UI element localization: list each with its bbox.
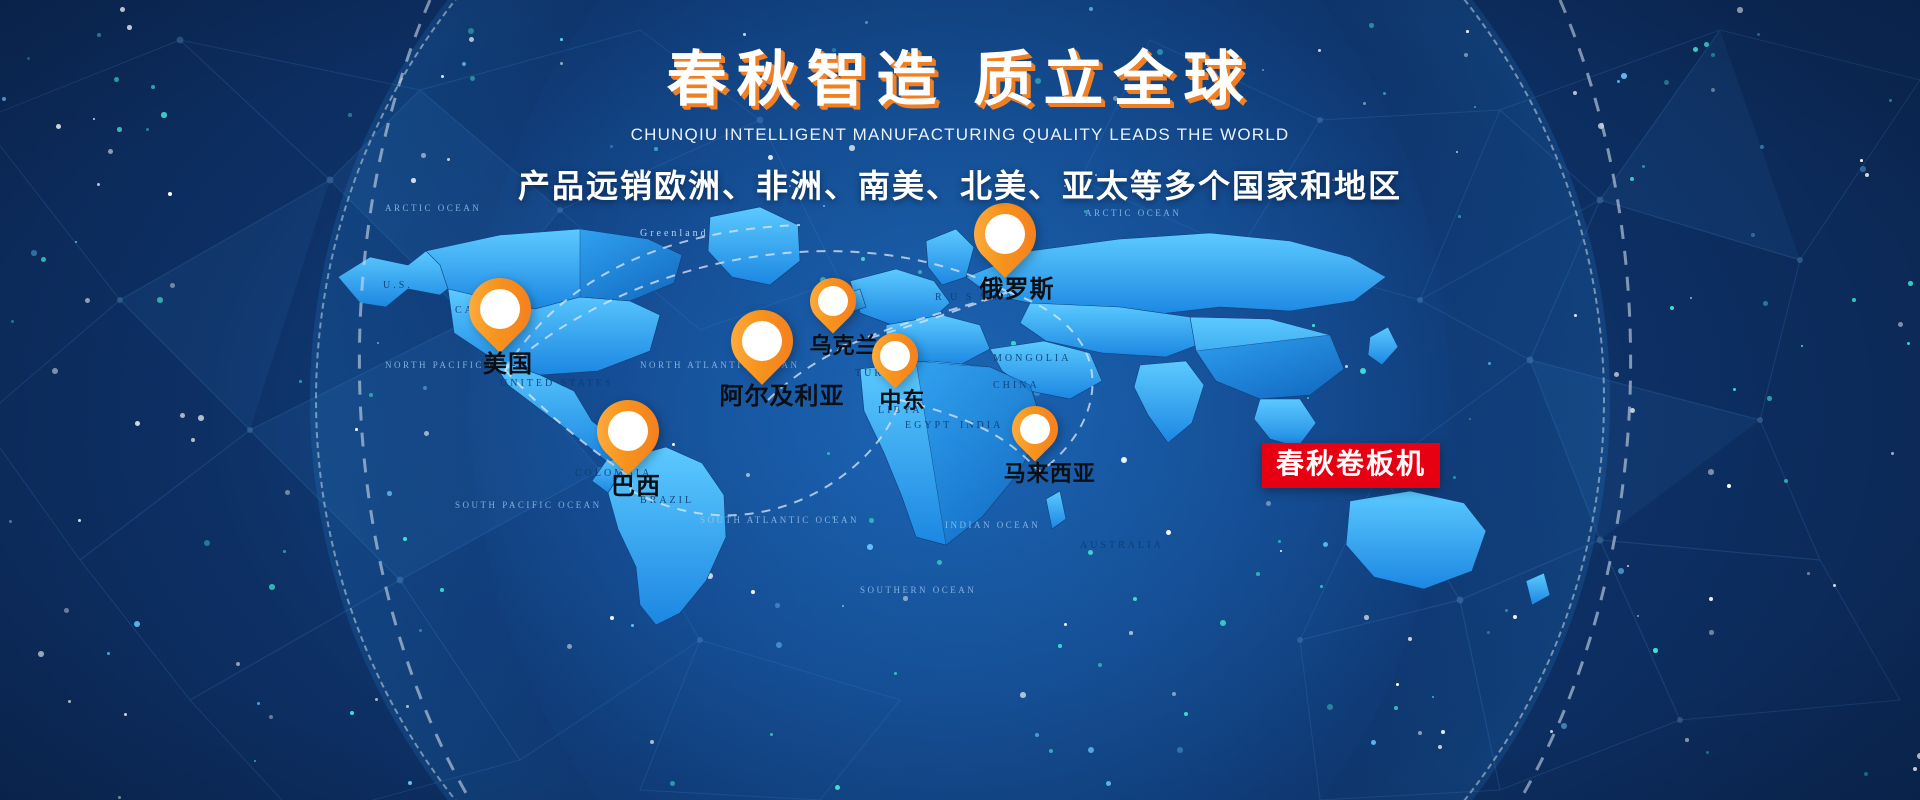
star-dot bbox=[1011, 341, 1016, 346]
star-dot bbox=[715, 237, 718, 240]
map-pin-center-dot bbox=[880, 341, 910, 371]
star-dot bbox=[751, 590, 755, 594]
star-dot bbox=[31, 250, 37, 256]
star-dot bbox=[1505, 609, 1508, 612]
star-dot bbox=[350, 711, 354, 715]
star-dot bbox=[686, 466, 691, 471]
map-pin-label: 美国 bbox=[483, 344, 533, 379]
star-dot bbox=[1913, 767, 1917, 771]
star-dot bbox=[127, 25, 132, 30]
star-dot bbox=[1630, 408, 1635, 413]
star-dot bbox=[1321, 368, 1324, 371]
brand-badge: 春秋卷板机 bbox=[1262, 443, 1440, 488]
star-dot bbox=[269, 584, 275, 590]
country-label: CHINA bbox=[993, 380, 1040, 391]
country-label: UNITED STATES bbox=[500, 378, 613, 389]
star-dot bbox=[1751, 233, 1755, 237]
star-dot bbox=[1708, 469, 1714, 475]
star-dot bbox=[1487, 631, 1490, 634]
star-dot bbox=[107, 652, 110, 655]
star-dot bbox=[1637, 615, 1639, 617]
star-dot bbox=[1627, 565, 1629, 567]
country-label: MONGOLIA bbox=[993, 353, 1071, 364]
star-dot bbox=[1345, 365, 1348, 368]
map-pin-center-dot bbox=[1020, 414, 1050, 444]
star-dot bbox=[659, 269, 664, 274]
star-dot bbox=[835, 785, 840, 790]
star-dot bbox=[1162, 406, 1165, 409]
star-dot bbox=[1767, 396, 1772, 401]
star-dot bbox=[1458, 215, 1461, 218]
star-dot bbox=[670, 781, 675, 786]
star-dot bbox=[560, 38, 563, 41]
star-dot bbox=[775, 603, 780, 608]
star-dot bbox=[545, 251, 551, 257]
star-dot bbox=[135, 421, 140, 426]
star-dot bbox=[1133, 597, 1137, 601]
star-dot bbox=[776, 642, 782, 648]
star-dot bbox=[937, 560, 942, 565]
star-dot bbox=[1763, 301, 1768, 306]
star-dot bbox=[1256, 572, 1260, 576]
star-dot bbox=[1090, 314, 1092, 316]
star-dot bbox=[440, 588, 444, 592]
star-dot bbox=[1364, 615, 1369, 620]
star-dot bbox=[842, 605, 844, 607]
star-dot bbox=[1396, 683, 1399, 686]
star-dot bbox=[992, 392, 994, 394]
star-dot bbox=[285, 490, 290, 495]
star-dot bbox=[68, 700, 71, 703]
map-pin-label: 巴西 bbox=[611, 466, 661, 501]
star-dot bbox=[1287, 283, 1290, 286]
star-dot bbox=[1898, 322, 1903, 327]
map-pin-usa[interactable]: 美国 bbox=[469, 278, 531, 360]
star-dot bbox=[707, 573, 713, 579]
star-dot bbox=[539, 329, 543, 333]
map-pin-russia[interactable]: 俄罗斯 bbox=[974, 203, 1036, 285]
star-dot bbox=[665, 563, 671, 569]
star-dot bbox=[1852, 298, 1856, 302]
star-dot bbox=[658, 510, 661, 513]
star-dot bbox=[610, 616, 614, 620]
star-dot bbox=[1466, 30, 1469, 33]
map-pin-center-dot bbox=[742, 321, 782, 361]
star-dot bbox=[631, 624, 634, 627]
star-dot bbox=[257, 702, 260, 705]
star-dot bbox=[469, 37, 474, 42]
star-dot bbox=[1327, 704, 1333, 710]
star-dot bbox=[1891, 452, 1894, 455]
star-dot bbox=[1807, 572, 1810, 575]
star-dot bbox=[874, 427, 878, 431]
star-dot bbox=[1320, 585, 1323, 588]
star-dot bbox=[1513, 615, 1517, 619]
star-dot bbox=[1784, 479, 1788, 483]
star-dot bbox=[419, 629, 422, 632]
star-dot bbox=[1032, 365, 1034, 367]
star-dot bbox=[567, 644, 572, 649]
star-dot bbox=[1184, 712, 1188, 716]
star-dot bbox=[468, 28, 474, 34]
star-dot bbox=[1425, 542, 1429, 546]
star-dot bbox=[1618, 568, 1624, 574]
star-dot bbox=[1469, 418, 1471, 420]
global-presence-banner: ARCTIC OCEANARCTIC OCEANNORTH PACIFIC OC… bbox=[0, 0, 1920, 800]
star-dot bbox=[170, 283, 175, 288]
star-dot bbox=[1408, 637, 1412, 641]
map-pin-ukraine[interactable]: 乌克兰 bbox=[810, 278, 856, 340]
map-pin-label: 马来西亚 bbox=[1004, 456, 1096, 488]
page-title-english: CHUNQIU INTELLIGENT MANUFACTURING QUALIT… bbox=[0, 125, 1920, 145]
star-dot bbox=[408, 781, 412, 785]
star-dot bbox=[1106, 281, 1110, 285]
star-dot bbox=[1129, 631, 1133, 635]
star-dot bbox=[1690, 297, 1692, 299]
map-pin-malaysia[interactable]: 马来西亚 bbox=[1012, 406, 1058, 468]
star-dot bbox=[269, 715, 273, 719]
star-dot bbox=[1488, 362, 1491, 365]
star-dot bbox=[406, 705, 409, 708]
star-dot bbox=[424, 431, 429, 436]
star-dot bbox=[1035, 733, 1039, 737]
star-dot bbox=[1574, 314, 1577, 317]
star-dot bbox=[198, 415, 204, 421]
star-dot bbox=[865, 21, 868, 24]
star-dot bbox=[236, 662, 240, 666]
star-dot bbox=[52, 368, 58, 374]
page-title: 春秋智造 质立全球 bbox=[0, 48, 1920, 111]
star-dot bbox=[1418, 731, 1422, 735]
star-dot bbox=[1323, 542, 1328, 547]
star-dot bbox=[545, 398, 549, 402]
star-dot bbox=[672, 443, 675, 446]
star-dot bbox=[473, 247, 477, 251]
star-dot bbox=[355, 428, 358, 431]
star-dot bbox=[1727, 484, 1731, 488]
map-pin-label: 中东 bbox=[879, 383, 925, 415]
star-dot bbox=[38, 651, 44, 657]
star-dot bbox=[1266, 501, 1271, 506]
star-dot bbox=[1058, 644, 1062, 648]
star-dot bbox=[1706, 751, 1709, 754]
map-pin-center-dot bbox=[985, 214, 1025, 254]
star-dot bbox=[1561, 723, 1567, 729]
star-dot bbox=[11, 320, 14, 323]
star-dot bbox=[387, 491, 392, 496]
star-dot bbox=[1280, 550, 1282, 552]
star-dot bbox=[1550, 730, 1553, 733]
star-dot bbox=[652, 523, 658, 529]
star-dot bbox=[157, 297, 163, 303]
star-dot bbox=[746, 473, 750, 477]
star-dot bbox=[1065, 328, 1068, 331]
star-dot bbox=[1737, 7, 1743, 13]
star-dot bbox=[1304, 289, 1308, 293]
star-dot bbox=[299, 380, 302, 383]
star-dot bbox=[1305, 393, 1307, 395]
star-dot bbox=[1653, 648, 1658, 653]
star-dot bbox=[1371, 740, 1376, 745]
star-dot bbox=[78, 519, 81, 522]
star-dot bbox=[918, 270, 922, 274]
star-dot bbox=[1220, 620, 1226, 626]
ocean-label: SOUTH PACIFIC OCEAN bbox=[455, 500, 602, 510]
banner-heading-block: 春秋智造 质立全球 CHUNQIU INTELLIGENT MANUFACTUR… bbox=[0, 48, 1920, 207]
star-dot bbox=[867, 544, 873, 550]
ocean-label: SOUTHERN OCEAN bbox=[860, 585, 976, 595]
star-dot bbox=[958, 443, 963, 448]
star-dot bbox=[861, 257, 865, 261]
star-dot bbox=[1166, 530, 1171, 535]
star-dot bbox=[1360, 368, 1366, 374]
ocean-label: INDIAN OCEAN bbox=[945, 520, 1040, 530]
star-dot bbox=[254, 760, 256, 762]
star-dot bbox=[1177, 747, 1183, 753]
star-dot bbox=[1757, 33, 1760, 36]
star-dot bbox=[1614, 372, 1619, 377]
star-dot bbox=[1121, 457, 1127, 463]
star-dot bbox=[743, 33, 746, 36]
star-dot bbox=[756, 251, 759, 254]
star-dot bbox=[1908, 281, 1913, 286]
map-pin-center-dot bbox=[818, 286, 848, 316]
star-dot bbox=[1098, 663, 1102, 667]
star-dot bbox=[75, 241, 77, 243]
star-dot bbox=[650, 740, 654, 744]
star-dot bbox=[204, 540, 210, 546]
country-label: INDIA bbox=[960, 420, 1003, 431]
star-dot bbox=[1432, 696, 1434, 698]
page-subtitle: 产品远销欧洲、非洲、南美、北美、亚太等多个国家和地区 bbox=[0, 161, 1920, 207]
star-dot bbox=[1864, 772, 1868, 776]
star-dot bbox=[1907, 342, 1910, 345]
country-label: AUSTRALIA bbox=[1080, 540, 1164, 551]
star-dot bbox=[1733, 388, 1736, 391]
star-dot bbox=[118, 796, 121, 799]
star-dot bbox=[377, 342, 379, 344]
star-dot bbox=[1049, 749, 1053, 753]
map-pin-center-dot bbox=[608, 411, 648, 451]
star-dot bbox=[403, 537, 407, 541]
map-pin-algeria[interactable]: 阿尔及利亚 bbox=[731, 310, 793, 392]
star-dot bbox=[1709, 597, 1713, 601]
star-dot bbox=[375, 698, 378, 701]
star-dot bbox=[1307, 397, 1309, 399]
star-dot bbox=[386, 261, 390, 265]
ocean-label: SOUTH ATLANTIC OCEAN bbox=[700, 515, 859, 525]
star-dot bbox=[827, 452, 830, 455]
star-dot bbox=[1369, 23, 1374, 28]
star-dot bbox=[180, 413, 185, 418]
star-dot bbox=[903, 596, 908, 601]
star-dot bbox=[85, 298, 90, 303]
star-dot bbox=[64, 608, 69, 613]
star-dot bbox=[1833, 584, 1836, 587]
star-dot bbox=[1801, 345, 1803, 347]
star-dot bbox=[191, 438, 195, 442]
star-dot bbox=[1020, 692, 1026, 698]
star-dot bbox=[423, 386, 427, 390]
star-dot bbox=[124, 713, 127, 716]
star-dot bbox=[1704, 42, 1709, 47]
star-dot bbox=[120, 7, 125, 12]
country-label: EGYPT bbox=[905, 420, 952, 431]
map-pin-center-dot bbox=[480, 289, 520, 329]
star-dot bbox=[1312, 324, 1315, 327]
star-dot bbox=[97, 33, 101, 37]
star-dot bbox=[770, 733, 773, 736]
star-dot bbox=[41, 257, 46, 262]
country-label: U.S. bbox=[383, 280, 413, 291]
star-dot bbox=[1089, 7, 1093, 11]
star-dot bbox=[1670, 306, 1674, 310]
star-dot bbox=[1441, 730, 1445, 734]
star-dot bbox=[869, 518, 874, 523]
star-dot bbox=[1709, 630, 1714, 635]
star-dot bbox=[1453, 476, 1456, 479]
map-pin-mideast[interactable]: 中东 bbox=[872, 333, 918, 395]
star-dot bbox=[369, 393, 373, 397]
star-dot bbox=[1172, 692, 1176, 696]
star-dot bbox=[1438, 745, 1442, 749]
map-pin-label: 阿尔及利亚 bbox=[720, 376, 845, 411]
ocean-label: ARCTIC OCEAN bbox=[1085, 208, 1181, 218]
map-pin-label: 乌克兰 bbox=[810, 328, 879, 360]
map-pin-label: 俄罗斯 bbox=[980, 269, 1055, 304]
map-pin-brazil[interactable]: 巴西 bbox=[597, 400, 659, 482]
star-dot bbox=[1088, 747, 1094, 753]
country-label: Greenland bbox=[640, 228, 709, 239]
star-dot bbox=[1278, 540, 1281, 543]
star-dot bbox=[283, 550, 286, 553]
star-dot bbox=[894, 672, 897, 675]
star-dot bbox=[1298, 402, 1301, 405]
star-dot bbox=[9, 520, 12, 523]
star-dot bbox=[134, 621, 140, 627]
star-dot bbox=[1106, 781, 1111, 786]
star-dot bbox=[1064, 623, 1067, 626]
star-dot bbox=[1685, 738, 1689, 742]
star-dot bbox=[1282, 353, 1286, 357]
star-dot bbox=[1394, 706, 1398, 710]
